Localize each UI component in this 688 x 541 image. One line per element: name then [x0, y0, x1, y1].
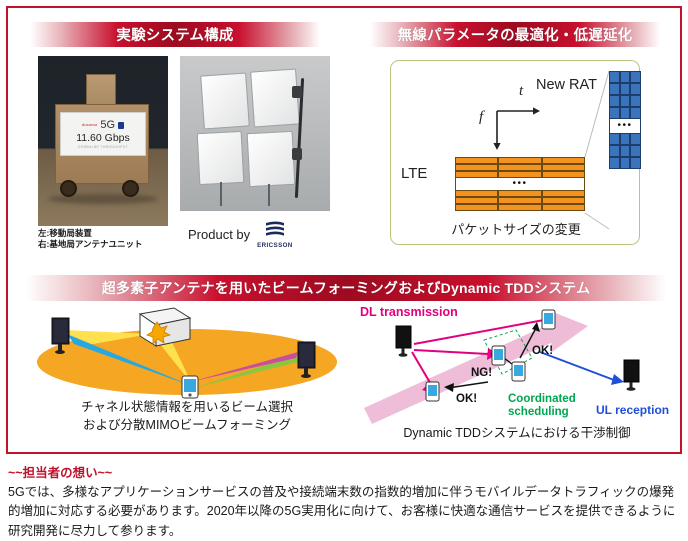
antenna-connector-1: [292, 86, 302, 98]
banner-experiment-system: 実験システム構成: [30, 22, 320, 47]
lte-band-bottom: [455, 190, 585, 211]
generation-label: 5G: [100, 120, 115, 131]
product-by-label: Product by: [188, 227, 250, 242]
reflector-box: [140, 308, 190, 346]
rat-band-top: [609, 71, 641, 119]
lte-cell: [542, 157, 585, 164]
mobile-terminal: [182, 376, 198, 398]
lte-cell: [498, 204, 541, 211]
rat-cell: [609, 133, 620, 145]
lte-cell: [542, 190, 585, 197]
rat-cell: [620, 71, 631, 83]
lte-cell: [455, 171, 498, 178]
antenna-unit-4: [247, 131, 296, 187]
lte-cell: [542, 171, 585, 178]
throughput-display: docomo 5G 11.60 Gbps DOWNLINK THROUGHPUT: [60, 112, 146, 156]
lte-cell: [498, 171, 541, 178]
throughput-subtitle: DOWNLINK THROUGHPUT: [78, 145, 128, 149]
panel-radio-parameter: t f New RAT LTE •••: [364, 54, 674, 269]
panel-beamforming: チャネル状態情報を用いるビーム選択 および分散MIMOビームフォーミング: [22, 304, 352, 454]
lte-cell: [455, 204, 498, 211]
throughput-value: 11.60 Gbps: [76, 132, 130, 144]
lte-band-top: [455, 157, 585, 178]
lte-cell: [542, 197, 585, 204]
lte-dots: •••: [512, 179, 527, 189]
terminal-lower-left: [426, 382, 439, 401]
closing-message: ~~担当者の想い~~ 5Gでは、多様なアプリケーションサービスの普及や接続端末数…: [8, 462, 680, 541]
message-title: ~~担当者の想い~~: [8, 462, 680, 481]
panel-dynamic-tdd: DL transmission NG! OK! OK! Coordinated …: [356, 304, 678, 454]
rat-cell: [620, 107, 631, 119]
lte-cell: [455, 164, 498, 171]
rat-ellipsis-row: •••: [609, 119, 641, 133]
trolley-wheel-right: [122, 180, 139, 197]
lte-cell: [498, 197, 541, 204]
lte-cell: [455, 190, 498, 197]
rat-cell: [620, 95, 631, 107]
ul-reception-label: UL reception: [596, 403, 669, 417]
lte-cell: [498, 157, 541, 164]
antenna-unit-3: [197, 131, 245, 185]
rat-cell: [630, 145, 641, 157]
rat-band-bottom: [609, 133, 641, 169]
trolley-upper-box: [86, 74, 116, 106]
antenna-unit-2: [250, 68, 300, 127]
rat-cell: [630, 71, 641, 83]
ericsson-wave-icon: [264, 219, 286, 241]
photo-caption-units: 左:移動局装置 右:基地局アンテナユニット: [38, 228, 198, 251]
dynamic-tdd-diagram: DL transmission NG! OK! OK! Coordinated …: [356, 304, 678, 424]
rat-cell: [630, 83, 641, 95]
axis-label-frequency: f: [479, 109, 483, 126]
ericsson-wordmark: ERICSSON: [257, 242, 293, 249]
rat-cell: [620, 83, 631, 95]
new-rat-label: New RAT: [536, 77, 597, 93]
ok-label-upper: OK!: [532, 345, 553, 357]
caption-right-unit: 右:基地局アンテナユニット: [38, 239, 198, 250]
banner-radio-parameter: 無線パラメータの最適化・低遅延化: [370, 22, 660, 47]
rat-cell: [609, 83, 620, 95]
rat-cell: [620, 157, 631, 169]
rat-cell: [630, 133, 641, 145]
rat-dots: •••: [617, 121, 632, 131]
panel-experiment-system: docomo 5G 11.60 Gbps DOWNLINK THROUGHPUT…: [20, 54, 340, 269]
rat-cell: [630, 107, 641, 119]
rat-cell: [609, 71, 620, 83]
beamforming-caption-line2: および分散MIMOビームフォーミング: [22, 416, 352, 434]
rat-cell: [620, 133, 631, 145]
lte-cell: [498, 190, 541, 197]
message-body: 5Gでは、多様なアプリケーションサービスの普及や接続端末数の指数的増加に伴うモバ…: [8, 483, 680, 541]
docomo-brand-label: docomo: [82, 123, 97, 127]
terminal-center-upper: [492, 346, 505, 365]
beamforming-caption: チャネル状態情報を用いるビーム選択 および分散MIMOビームフォーミング: [22, 398, 352, 434]
photo-base-station-antenna-units: [180, 56, 330, 211]
lte-cell: [542, 204, 585, 211]
lte-cell: [498, 164, 541, 171]
ericsson-logo: ERICSSON: [257, 219, 293, 249]
ok-label-lower: OK!: [456, 393, 477, 405]
coordinated-label-line2: scheduling: [508, 406, 569, 418]
partner-logo-icon: [118, 122, 124, 129]
lte-ellipsis-row: •••: [455, 178, 585, 190]
ul-arrowhead: [611, 374, 624, 385]
beamforming-caption-line1: チャネル状態情報を用いるビーム選択: [22, 398, 352, 416]
banner-beamforming-label: 超多素子アンテナを用いたビームフォーミングおよびDynamic TDDシステム: [102, 278, 591, 298]
antenna-stand-leg-2: [268, 184, 270, 206]
antenna-stand-leg-1: [220, 182, 222, 206]
base-station-dl: [396, 326, 411, 357]
rat-cell: [630, 157, 641, 169]
beamforming-diagram: [22, 304, 352, 399]
ng-label: NG!: [471, 367, 492, 379]
lte-cell: [455, 197, 498, 204]
coordinated-label-line1: Coordinated: [508, 393, 576, 405]
terminal-upper-right: [542, 310, 555, 329]
antenna-connector-2: [292, 148, 302, 160]
rat-cell: [630, 95, 641, 107]
photo-mobile-station-trolley: docomo 5G 11.60 Gbps DOWNLINK THROUGHPUT: [38, 56, 168, 226]
rat-cell: [609, 157, 620, 169]
packet-size-diagram: t f New RAT LTE •••: [390, 60, 640, 245]
lte-cell: [542, 164, 585, 171]
slide-frame: 実験システム構成 無線パラメータの最適化・低遅延化 docomo 5G 11.6…: [6, 6, 682, 454]
caption-left-unit: 左:移動局装置: [38, 228, 198, 239]
terminal-center-lower: [512, 362, 525, 381]
base-station-ul: [624, 360, 639, 391]
display-header-row: docomo 5G: [82, 120, 124, 131]
banner-radio-label: 無線パラメータの最適化・低遅延化: [398, 24, 633, 45]
packet-size-caption: パケットサイズの変更: [391, 219, 641, 238]
rat-cell: [609, 95, 620, 107]
axis-label-time: t: [519, 83, 523, 100]
rat-cell: [609, 107, 620, 119]
rat-cell: [620, 145, 631, 157]
new-rat-resource-grid: •••: [609, 71, 641, 169]
lte-label: LTE: [401, 165, 427, 182]
lte-cell: [455, 157, 498, 164]
banner-beamforming-tdd: 超多素子アンテナを用いたビームフォーミングおよびDynamic TDDシステム: [26, 275, 666, 301]
dynamic-tdd-caption: Dynamic TDDシステムにおける干渉制御: [356, 422, 678, 441]
rat-cell: [609, 145, 620, 157]
lte-resource-grid: •••: [455, 157, 585, 211]
product-vendor-credit: Product by ERICSSON: [188, 219, 338, 249]
antenna-unit-1: [200, 72, 250, 129]
banner-experiment-label: 実験システム構成: [116, 24, 233, 45]
dl-transmission-label: DL transmission: [360, 305, 458, 319]
axes-arrows-icon: [489, 105, 545, 153]
trolley-wheel-left: [60, 180, 77, 197]
